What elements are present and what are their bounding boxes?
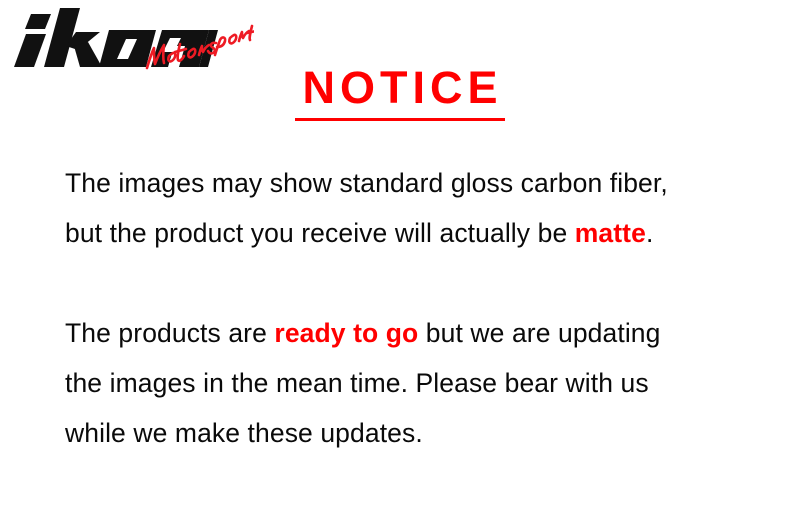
paragraph-2-line-2: the images in the mean time. Please bear… xyxy=(65,358,765,408)
paragraph-1-line-2: but the product you receive will actuall… xyxy=(65,208,765,258)
paragraph-2-line-3-text: while we make these updates. xyxy=(65,418,423,448)
paragraph-2-line-1: The products are ready to go but we are … xyxy=(65,308,765,358)
highlight-ready-to-go: ready to go xyxy=(274,318,418,348)
notice-body: The images may show standard gloss carbo… xyxy=(65,158,765,458)
notice-heading-wrap: NOTICE xyxy=(0,64,800,121)
paragraph-1-line-1: The images may show standard gloss carbo… xyxy=(65,158,765,208)
paragraph-2-line-2-text: the images in the mean time. Please bear… xyxy=(65,368,649,398)
logo-wordmark-ikon xyxy=(14,8,218,67)
paragraph-1-line-2-suffix: . xyxy=(646,218,653,248)
paragraph-2-line-3: while we make these updates. xyxy=(65,408,765,458)
paragraph-2-line-1-prefix: The products are xyxy=(65,318,274,348)
highlight-matte: matte xyxy=(575,218,646,248)
paragraph-2-line-1-suffix: but we are updating xyxy=(418,318,660,348)
paragraph-1-line-1-text: The images may show standard gloss carbo… xyxy=(65,168,668,198)
page-title: NOTICE xyxy=(295,64,504,121)
paragraph-spacer xyxy=(65,258,765,308)
paragraph-1-line-2-prefix: but the product you receive will actuall… xyxy=(65,218,575,248)
